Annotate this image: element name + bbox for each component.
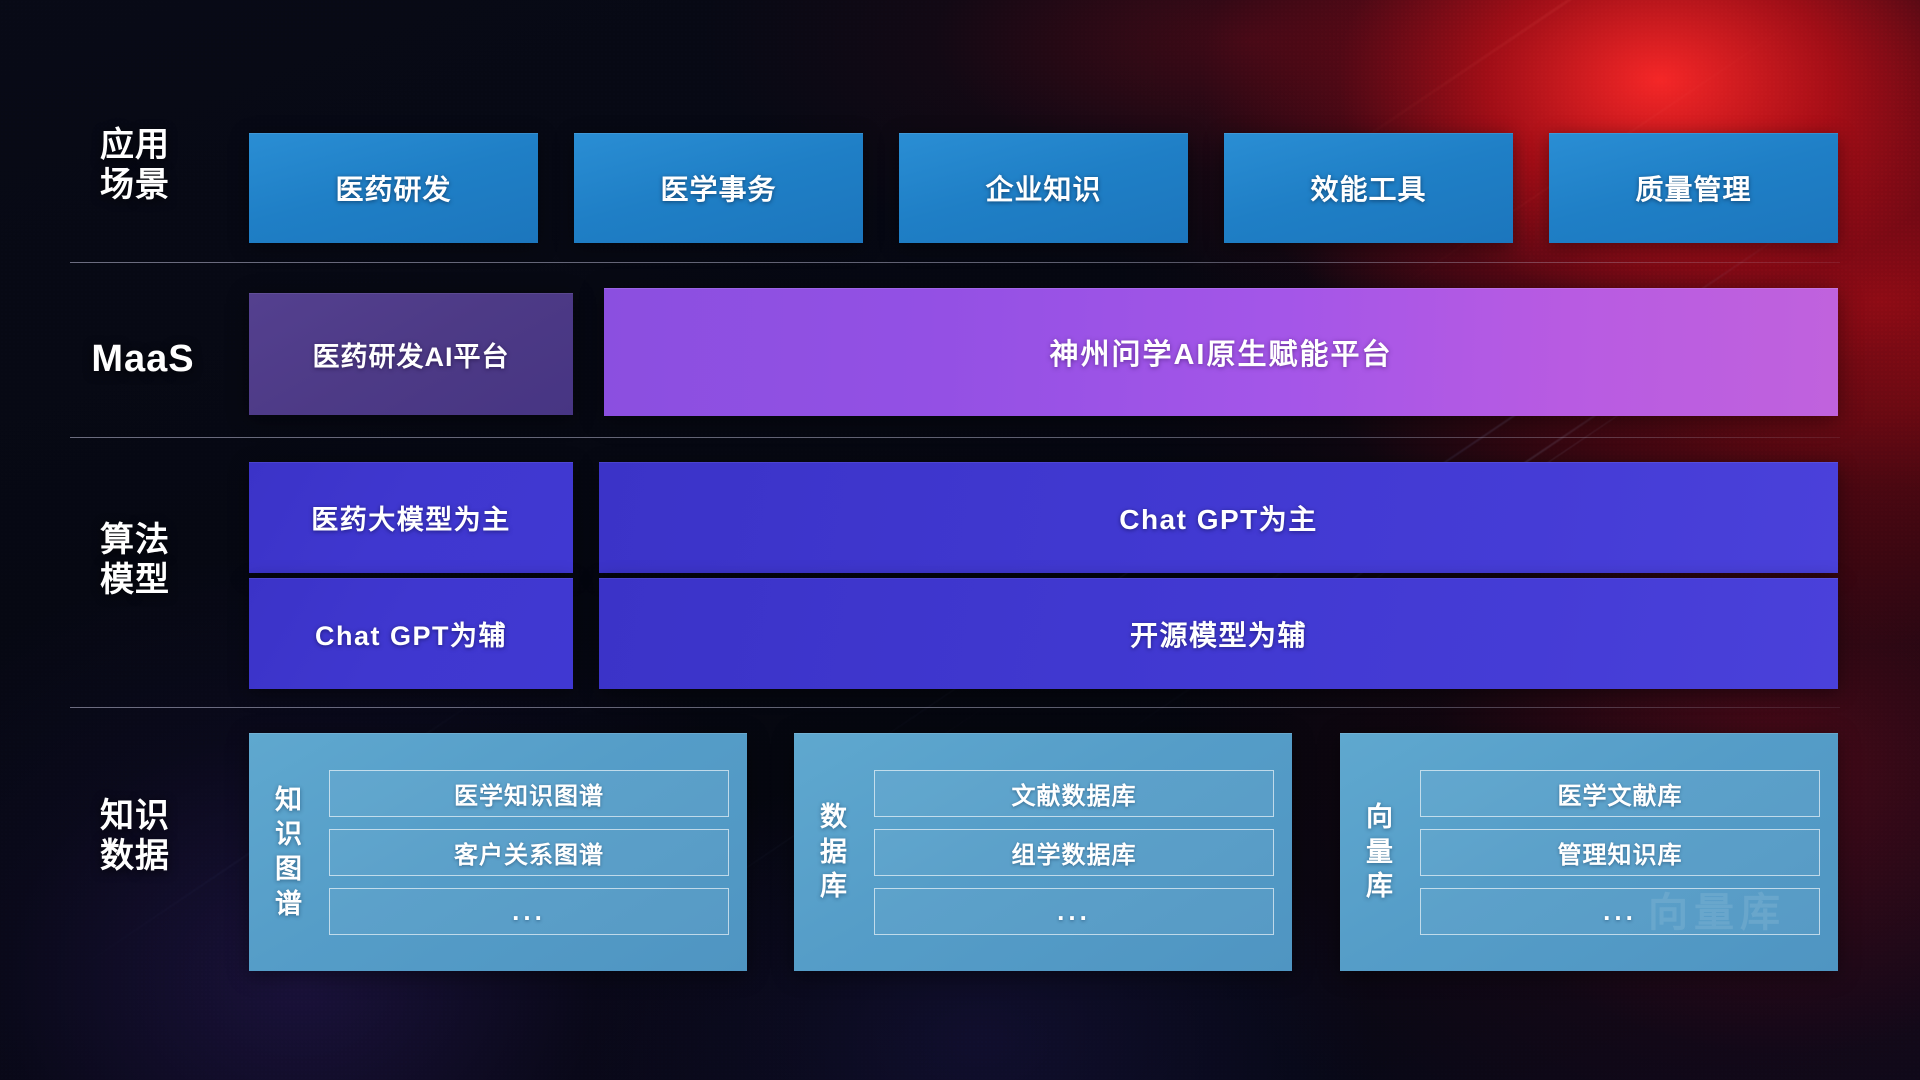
knowledge-panel-graph[interactable]: 知 识 图 谱 医学知识图谱 客户关系图谱 ... <box>249 733 747 971</box>
knowledge-item-more[interactable]: ... <box>874 888 1274 935</box>
row-divider-2 <box>70 437 1840 438</box>
knowledge-item-label: 客户关系图谱 <box>454 835 604 870</box>
maas-right-card[interactable]: 神州问学AI原生赋能平台 <box>604 288 1838 416</box>
row-divider-1 <box>70 262 1840 263</box>
algo-bar-label: 开源模型为辅 <box>1130 614 1307 654</box>
scenario-card-label: 企业知识 <box>985 168 1101 208</box>
knowledge-item-label: ... <box>1057 896 1091 927</box>
scenario-card-1[interactable]: 医学事务 <box>574 133 863 243</box>
row-label-scenarios: 应用 场景 <box>70 125 200 205</box>
knowledge-item-label: 组学数据库 <box>1012 835 1137 870</box>
knowledge-item[interactable]: 医学知识图谱 <box>329 770 729 817</box>
row-label-knowledge: 知识 数据 <box>70 796 200 876</box>
scenario-card-3[interactable]: 效能工具 <box>1224 133 1513 243</box>
knowledge-item[interactable]: 客户关系图谱 <box>329 829 729 876</box>
algo-bar-secondary-right[interactable]: 开源模型为辅 <box>599 578 1838 689</box>
algo-bar-label: Chat GPT为辅 <box>315 614 507 653</box>
maas-left-card[interactable]: 医药研发AI平台 <box>249 293 573 415</box>
knowledge-item-label: 医学知识图谱 <box>454 776 604 811</box>
scenario-card-label: 医药研发 <box>335 168 451 208</box>
knowledge-item-list: 医学文献库 管理知识库 ... <box>1420 770 1838 935</box>
knowledge-item-label: ... <box>1603 896 1637 927</box>
scenario-card-label: 质量管理 <box>1635 168 1751 208</box>
knowledge-item-list: 文献数据库 组学数据库 ... <box>874 770 1292 935</box>
knowledge-panel-label: 向 量 库 <box>1340 800 1420 904</box>
knowledge-panel-label: 知 识 图 谱 <box>249 783 329 921</box>
algo-bar-label: Chat GPT为主 <box>1119 498 1318 538</box>
algo-bar-primary-left[interactable]: 医药大模型为主 <box>249 462 573 573</box>
knowledge-panel-vector[interactable]: 向 量 库 医学文献库 管理知识库 ... <box>1340 733 1838 971</box>
knowledge-panel-database[interactable]: 数 据 库 文献数据库 组学数据库 ... <box>794 733 1292 971</box>
knowledge-panel-label: 数 据 库 <box>794 800 874 904</box>
knowledge-item-label: ... <box>512 896 546 927</box>
scenario-card-0[interactable]: 医药研发 <box>249 133 538 243</box>
algo-bar-label: 医药大模型为主 <box>311 498 511 537</box>
row-label-maas: MaaS <box>70 337 216 382</box>
knowledge-item-more[interactable]: ... <box>1420 888 1820 935</box>
scenario-card-label: 效能工具 <box>1310 168 1426 208</box>
scenario-card-4[interactable]: 质量管理 <box>1549 133 1838 243</box>
knowledge-item-label: 医学文献库 <box>1558 776 1683 811</box>
row-label-algorithms: 算法 模型 <box>70 520 200 600</box>
knowledge-item[interactable]: 管理知识库 <box>1420 829 1820 876</box>
knowledge-item[interactable]: 文献数据库 <box>874 770 1274 817</box>
knowledge-item[interactable]: 组学数据库 <box>874 829 1274 876</box>
knowledge-item-label: 管理知识库 <box>1558 835 1683 870</box>
maas-right-card-label: 神州问学AI原生赋能平台 <box>1049 331 1392 373</box>
algo-bar-secondary-left[interactable]: Chat GPT为辅 <box>249 578 573 689</box>
knowledge-item-label: 文献数据库 <box>1012 776 1137 811</box>
scenario-card-label: 医学事务 <box>660 168 776 208</box>
row-divider-3 <box>70 707 1840 708</box>
scenario-card-2[interactable]: 企业知识 <box>899 133 1188 243</box>
algo-bar-primary-right[interactable]: Chat GPT为主 <box>599 462 1838 573</box>
maas-left-card-label: 医药研发AI平台 <box>313 335 510 374</box>
knowledge-item-list: 医学知识图谱 客户关系图谱 ... <box>329 770 747 935</box>
knowledge-item-more[interactable]: ... <box>329 888 729 935</box>
knowledge-item[interactable]: 医学文献库 <box>1420 770 1820 817</box>
